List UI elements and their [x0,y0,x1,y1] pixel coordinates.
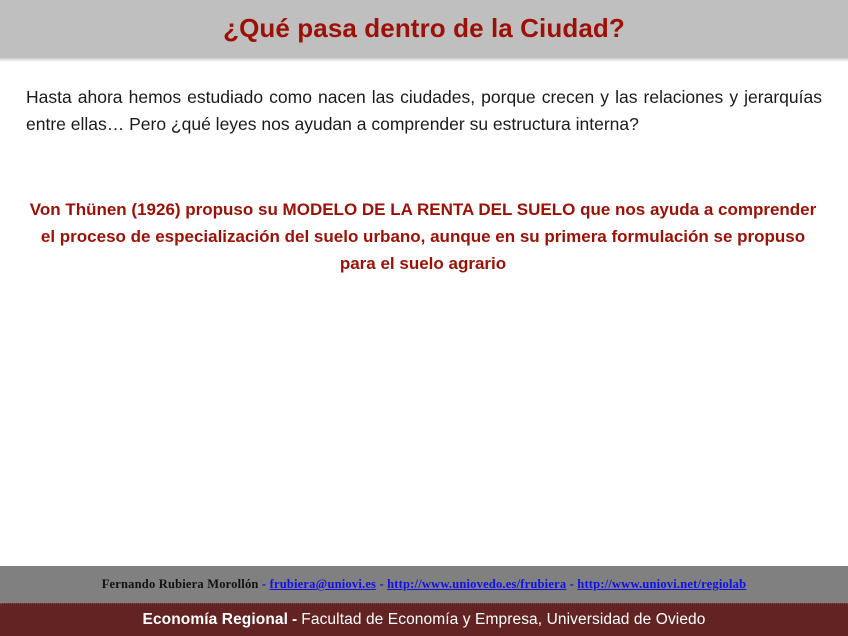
slide-title-band: ¿Qué pasa dentro de la Ciudad? [0,0,848,58]
footer-brand-band: Economía Regional-Facultad de Economía y… [0,603,848,636]
credit-line: Fernando Rubiera Morollón - frubiera@uni… [102,578,747,591]
highlight-paragraph: Von Thünen (1926) propuso su MODELO DE L… [28,196,818,277]
credit-separator-3: - [566,577,577,591]
course-name: Economía Regional [143,611,289,628]
credit-separator-1: - [259,577,270,591]
website-link[interactable]: http://www.uniovedo.es/frubiera [387,577,566,591]
page-title: ¿Qué pasa dentro de la Ciudad? [223,15,625,43]
intro-paragraph: Hasta ahora hemos estudiado como nacen l… [26,84,822,137]
credit-separator-2: - [376,577,387,591]
slide-canvas: ¿Qué pasa dentro de la Ciudad? Hasta aho… [0,0,848,636]
email-link[interactable]: frubiera@uniovi.es [270,577,377,591]
brand-line: Economía Regional-Facultad de Economía y… [143,612,706,628]
footer-credit-band: Fernando Rubiera Morollón - frubiera@uni… [0,566,848,603]
brand-separator: - [288,611,301,628]
regiolab-link[interactable]: http://www.uniovi.net/regiolab [577,577,746,591]
author-name: Fernando Rubiera Morollón [102,577,259,591]
institution-name: Facultad de Economía y Empresa, Universi… [301,611,705,628]
slide-body: Hasta ahora hemos estudiado como nacen l… [26,84,822,137]
